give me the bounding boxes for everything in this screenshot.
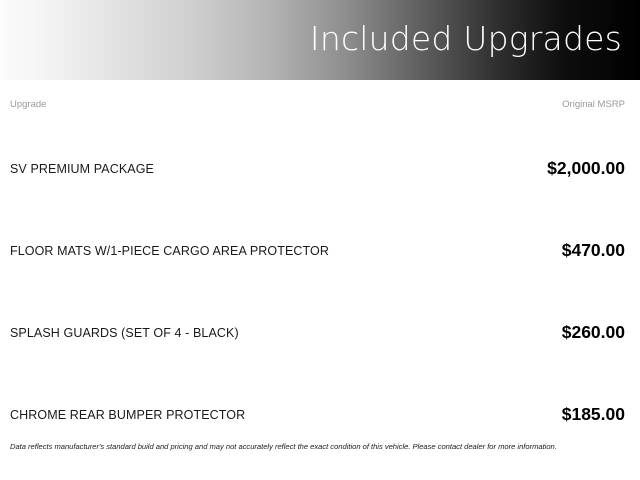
upgrades-table-body: SV PREMIUM PACKAGE $2,000.00 FLOOR MATS …	[0, 128, 640, 456]
upgrade-name: CHROME REAR BUMPER PROTECTOR	[10, 408, 259, 422]
upgrade-name: SV PREMIUM PACKAGE	[10, 162, 168, 176]
disclaimer-text: Data reflects manufacturer's standard bu…	[10, 442, 628, 451]
upgrade-name: SPLASH GUARDS (SET OF 4 - BLACK)	[10, 326, 253, 340]
upgrade-price: $2,000.00	[547, 160, 625, 178]
table-row: SPLASH GUARDS (SET OF 4 - BLACK) $260.00	[0, 292, 640, 374]
table-column-headers: Upgrade Original MSRP	[0, 98, 640, 112]
upgrade-price: $185.00	[562, 406, 625, 424]
table-row: FLOOR MATS W/1-PIECE CARGO AREA PROTECTO…	[0, 210, 640, 292]
disclaimer-section: Data reflects manufacturer's standard bu…	[0, 442, 640, 451]
page-header-banner: Included Upgrades	[0, 0, 640, 80]
included-upgrades-page: Included Upgrades Upgrade Original MSRP …	[0, 0, 640, 480]
page-title: Included Upgrades	[310, 22, 640, 58]
upgrade-name: FLOOR MATS W/1-PIECE CARGO AREA PROTECTO…	[10, 244, 343, 258]
column-header-original-msrp: Original MSRP	[562, 100, 625, 110]
table-row: SV PREMIUM PACKAGE $2,000.00	[0, 128, 640, 210]
upgrade-price: $260.00	[562, 324, 625, 342]
upgrade-price: $470.00	[562, 242, 625, 260]
column-header-upgrade: Upgrade	[10, 100, 46, 110]
